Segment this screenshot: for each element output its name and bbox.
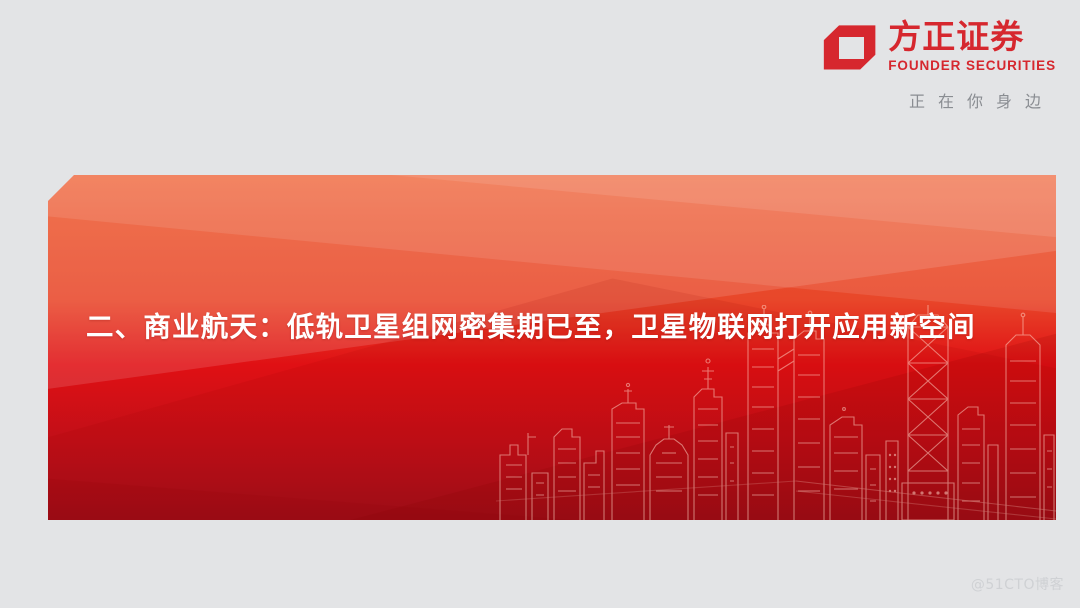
- watermark: @51CTO博客: [971, 574, 1064, 594]
- brand-name-cn: 方正证券: [888, 20, 1024, 53]
- section-banner: 二、商业航天：低轨卫星组网密集期已至，卫星物联网打开应用新空间: [48, 175, 1056, 520]
- brand-name-en: FOUNDER SECURITIES: [888, 58, 1056, 73]
- section-title: 二、商业航天：低轨卫星组网密集期已至，卫星物联网打开应用新空间: [86, 311, 1046, 344]
- brand-name-block: 方正证券 FOUNDER SECURITIES: [888, 20, 1056, 73]
- brand-lockup: 方正证券 FOUNDER SECURITIES 正在你身边: [826, 18, 1056, 118]
- presentation-slide: 方正证券 FOUNDER SECURITIES 正在你身边: [0, 0, 1080, 608]
- logo-row: 方正证券 FOUNDER SECURITIES: [826, 18, 1056, 74]
- founder-securities-cube-logo-icon: [822, 18, 878, 74]
- brand-tagline: 正在你身边: [826, 88, 1056, 112]
